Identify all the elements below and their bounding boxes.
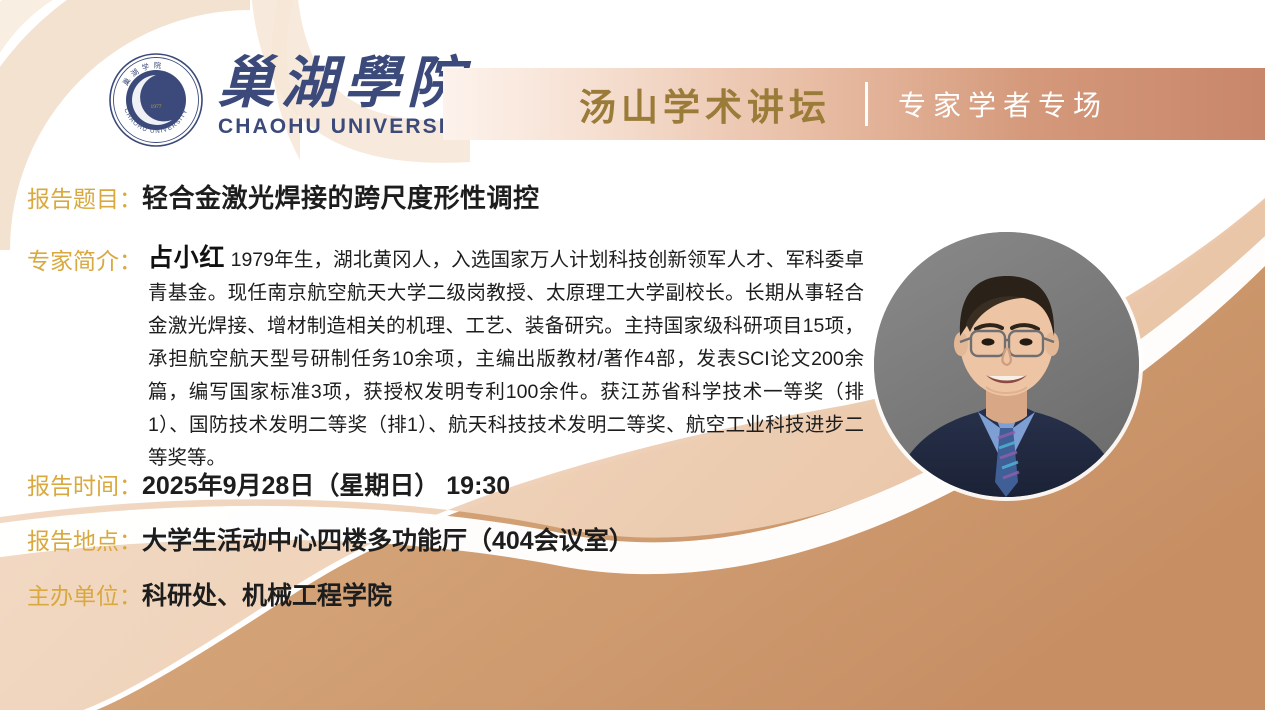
lecture-time-row: 报告时间： 2025年9月28日（星期日） 19:30 — [27, 466, 510, 502]
chaohu-university-seal-icon: 1977 巢 湖 学 院 CHAOHU UNIVERSITY — [108, 52, 204, 148]
svg-text:1977: 1977 — [151, 104, 162, 110]
lecture-title-row: 报告题目： 轻合金激光焊接的跨尺度形性调控 — [27, 178, 540, 215]
lecture-series-banner: 汤山学术讲坛 专家学者专场 — [443, 68, 1265, 140]
banner-series-subtitle: 专家学者专场 — [898, 84, 1108, 124]
lecture-place-value: 大学生活动中心四楼多功能厅（404会议室） — [142, 521, 634, 557]
university-logo-block: 1977 巢 湖 学 院 CHAOHU UNIVERSITY 巢湖學院 CHAO… — [108, 52, 478, 148]
speaker-bio-text: 占小红 1979年生，湖北黄冈人，入选国家万人计划科技创新领军人才、军科委卓青基… — [148, 242, 864, 475]
lecture-time-label: 报告时间： — [27, 467, 142, 501]
speaker-name: 占小红 — [148, 244, 225, 272]
lecture-organizer-value: 科研处、机械工程学院 — [142, 576, 392, 612]
poster-header: 1977 巢 湖 学 院 CHAOHU UNIVERSITY 巢湖學院 CHAO… — [0, 0, 1265, 158]
lecture-place-label: 报告地点： — [27, 522, 142, 556]
seminar-poster: 1977 巢 湖 学 院 CHAOHU UNIVERSITY 巢湖學院 CHAO… — [0, 0, 1265, 710]
speaker-bio-row: 专家简介： 占小红 1979年生，湖北黄冈人，入选国家万人计划科技创新领军人才、… — [27, 242, 867, 475]
speaker-bio-label: 专家简介： — [27, 242, 142, 276]
university-name-cn: 巢湖學院 — [218, 56, 478, 113]
lecture-title-label: 报告题目： — [27, 180, 142, 214]
banner-divider — [865, 82, 868, 126]
lecture-organizer-row: 主办单位： 科研处、机械工程学院 — [27, 576, 392, 612]
lecture-organizer-label: 主办单位： — [27, 577, 142, 611]
speaker-bio-body: 1979年生，湖北黄冈人，入选国家万人计划科技创新领军人才、军科委卓青基金。现任… — [148, 249, 864, 469]
lecture-place-row: 报告地点： 大学生活动中心四楼多功能厅（404会议室） — [27, 521, 634, 557]
banner-series-title: 汤山学术讲坛 — [579, 77, 831, 131]
university-name-en: CHAOHU UNIVERSITY — [218, 115, 478, 139]
lecture-title-value: 轻合金激光焊接的跨尺度形性调控 — [142, 178, 540, 215]
speaker-portrait-photo — [874, 232, 1139, 497]
lecture-time-value: 2025年9月28日（星期日） 19:30 — [142, 466, 510, 502]
